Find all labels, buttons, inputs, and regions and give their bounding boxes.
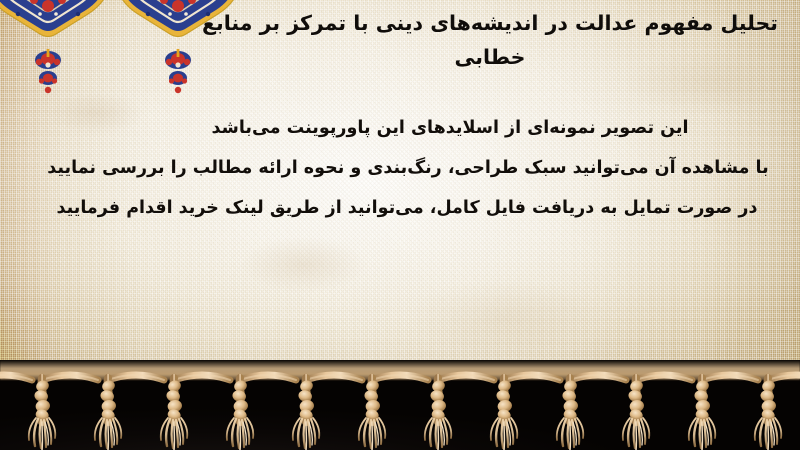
slide-body: این تصویر نمونه‌ای از اسلایدهای این پاور… <box>20 108 790 228</box>
slide-title-line-1: تحلیل مفهوم عدالت در اندیشه‌های دینی با … <box>202 11 778 35</box>
fringe-tassels <box>0 375 800 450</box>
slide-text-layer: تحلیل مفهوم عدالت در اندیشه‌های دینی با … <box>0 0 800 378</box>
slide-body-line-1: این تصویر نمونه‌ای از اسلایدهای این پاور… <box>20 108 790 148</box>
slide-body-line-3: در صورت تمایل به دریافت فایل کامل، می‌تو… <box>20 188 790 228</box>
fringe-band <box>0 360 800 450</box>
slide-title-line-2: خطابی <box>455 45 526 69</box>
slide-body-line-2: با مشاهده آن می‌توانید سبک طراحی، رنگ‌بن… <box>20 148 790 188</box>
carpet-fringe <box>0 360 800 450</box>
presentation-slide: تحلیل مفهوم عدالت در اندیشه‌های دینی با … <box>0 0 800 450</box>
slide-title: تحلیل مفهوم عدالت در اندیشه‌های دینی با … <box>190 6 790 74</box>
